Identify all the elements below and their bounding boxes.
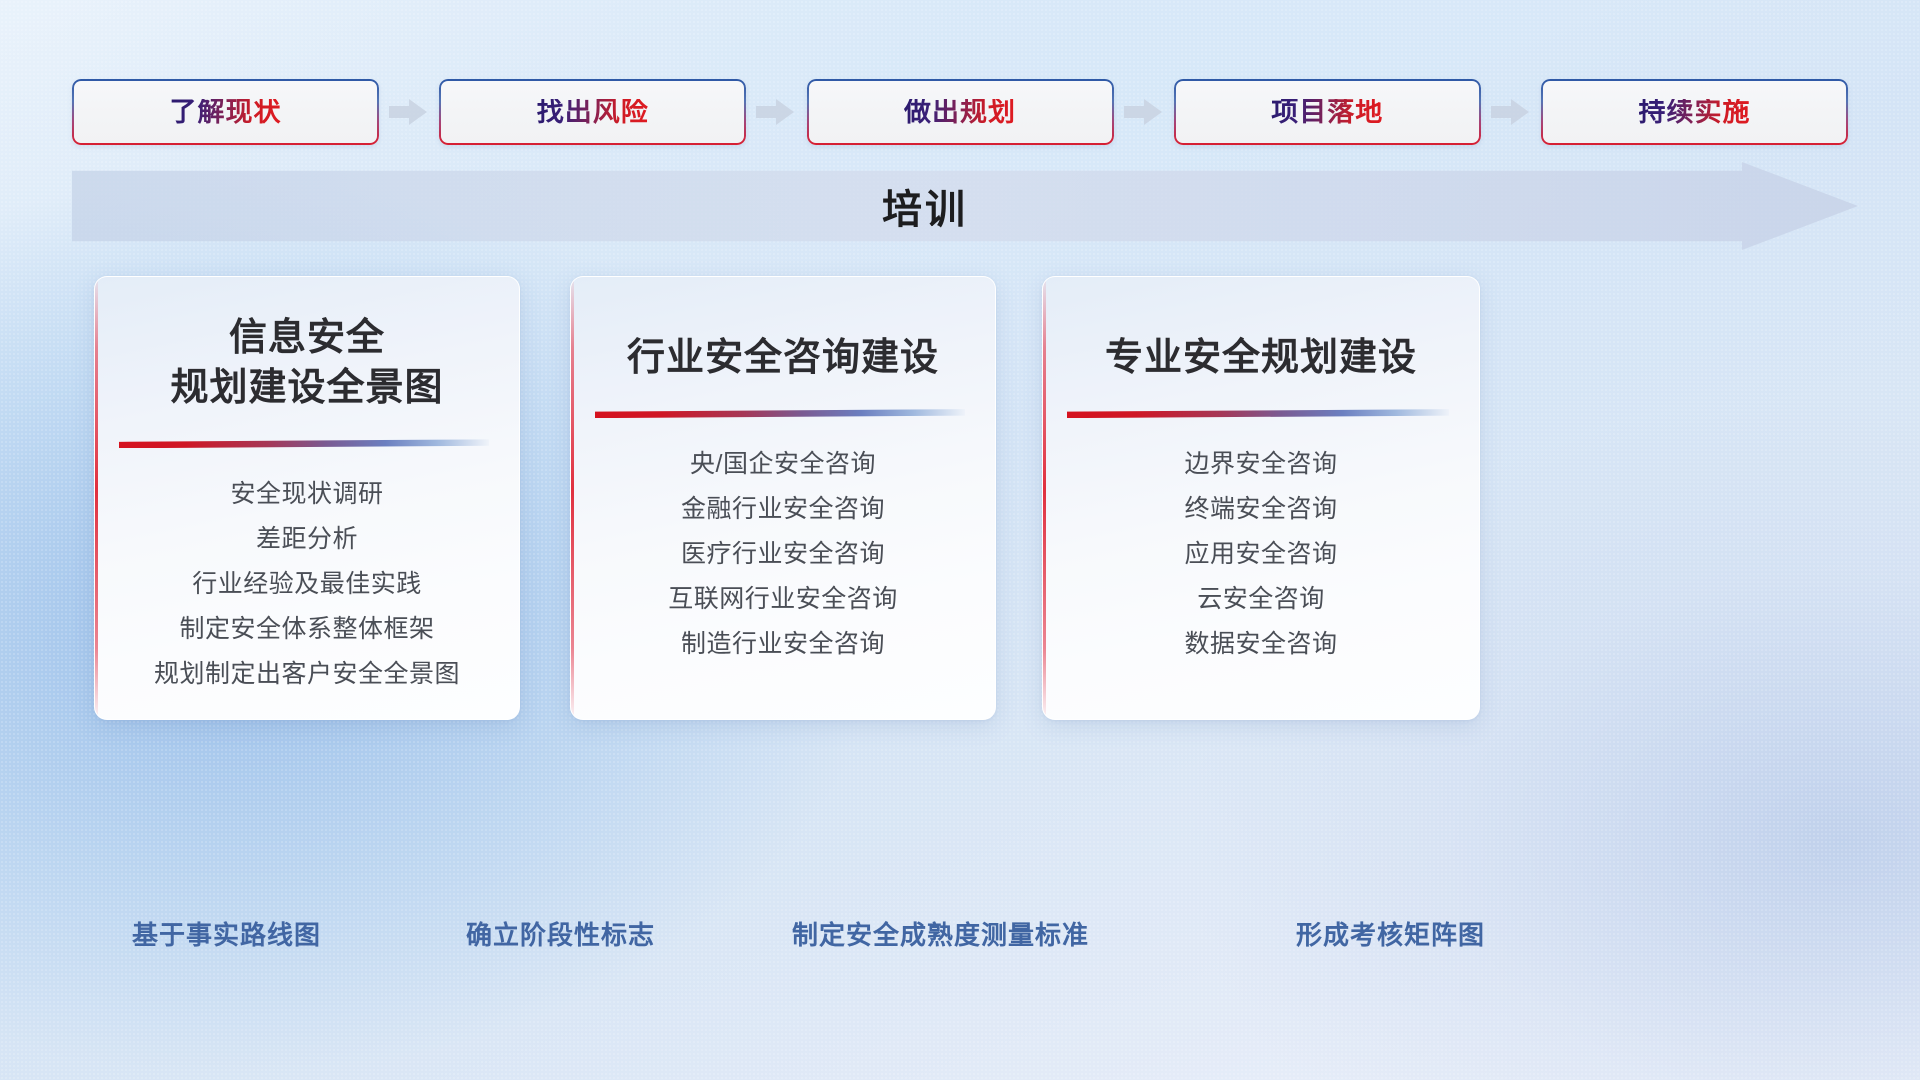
list-item: 制造行业安全咨询 xyxy=(587,632,979,677)
list-item: 边界安全咨询 xyxy=(1059,452,1463,497)
list-item: 制定安全体系整体框架 xyxy=(111,617,503,662)
card-left-accent-bar xyxy=(571,277,574,719)
list-item: 央/国企安全咨询 xyxy=(587,452,979,497)
step-box-3[interactable]: 做出规划 xyxy=(807,79,1114,145)
step-label-1: 了解现状 xyxy=(170,99,282,126)
card-group: 信息安全 规划建设全景图 安全现状调研 差距分析 行业经验及最佳实践 制定安全体… xyxy=(0,276,1920,736)
card-left-accent-bar xyxy=(95,277,98,719)
footer-label-1: 基于事实路线图 xyxy=(132,922,321,948)
footer-label-3: 制定安全成熟度测量标准 xyxy=(792,922,1089,948)
step-label-3: 做出规划 xyxy=(904,99,1016,126)
step-box-2[interactable]: 找出风险 xyxy=(439,79,746,145)
step-label-5: 持续实施 xyxy=(1639,99,1751,126)
list-item: 安全现状调研 xyxy=(111,482,503,527)
card-title: 专业安全规划建设 xyxy=(1043,277,1479,383)
slide-canvas: 了解现状 找出风险 做出规划 项目落地 持续实施 培训 xyxy=(0,0,1920,1080)
step-box-5[interactable]: 持续实施 xyxy=(1541,79,1848,145)
step-box-4[interactable]: 项目落地 xyxy=(1174,79,1481,145)
card-information-security-blueprint[interactable]: 信息安全 规划建设全景图 安全现状调研 差距分析 行业经验及最佳实践 制定安全体… xyxy=(94,276,520,720)
chevron-right-arrow-icon xyxy=(756,97,796,127)
card-divider xyxy=(119,439,489,448)
list-item: 行业经验及最佳实践 xyxy=(111,572,503,617)
card-divider xyxy=(1067,409,1449,418)
list-item: 差距分析 xyxy=(111,527,503,572)
list-item: 规划制定出客户安全全景图 xyxy=(111,662,503,707)
card-item-list: 安全现状调研 差距分析 行业经验及最佳实践 制定安全体系整体框架 规划制定出客户… xyxy=(95,448,519,707)
training-banner: 培训 xyxy=(72,162,1858,250)
list-item: 金融行业安全咨询 xyxy=(587,497,979,542)
list-item: 数据安全咨询 xyxy=(1059,632,1463,677)
training-banner-title: 培训 xyxy=(72,162,1858,250)
step-box-1[interactable]: 了解现状 xyxy=(72,79,379,145)
list-item: 应用安全咨询 xyxy=(1059,542,1463,587)
list-item: 云安全咨询 xyxy=(1059,587,1463,632)
card-title: 信息安全 规划建设全景图 xyxy=(95,277,519,413)
footer-label-2: 确立阶段性标志 xyxy=(466,922,655,948)
card-item-list: 央/国企安全咨询 金融行业安全咨询 医疗行业安全咨询 互联网行业安全咨询 制造行… xyxy=(571,418,995,677)
card-item-list: 边界安全咨询 终端安全咨询 应用安全咨询 云安全咨询 数据安全咨询 xyxy=(1043,418,1479,677)
card-professional-security-planning[interactable]: 专业安全规划建设 边界安全咨询 终端安全咨询 应用安全咨询 云安全咨询 数据安全… xyxy=(1042,276,1480,720)
card-industry-security-consulting[interactable]: 行业安全咨询建设 央/国企安全咨询 金融行业安全咨询 医疗行业安全咨询 互联网行… xyxy=(570,276,996,720)
list-item: 互联网行业安全咨询 xyxy=(587,587,979,632)
chevron-right-arrow-icon xyxy=(389,97,429,127)
chevron-right-arrow-icon xyxy=(1124,97,1164,127)
list-item: 医疗行业安全咨询 xyxy=(587,542,979,587)
list-item: 终端安全咨询 xyxy=(1059,497,1463,542)
card-left-accent-bar xyxy=(1043,277,1046,719)
process-step-flow: 了解现状 找出风险 做出规划 项目落地 持续实施 xyxy=(72,78,1848,146)
footer-label-4: 形成考核矩阵图 xyxy=(1296,922,1485,948)
card-divider xyxy=(595,409,965,418)
card-title: 行业安全咨询建设 xyxy=(571,277,995,383)
step-label-4: 项目落地 xyxy=(1271,99,1383,126)
chevron-right-arrow-icon xyxy=(1491,97,1531,127)
footer-outcome-labels: 基于事实路线图 确立阶段性标志 制定安全成熟度测量标准 形成考核矩阵图 xyxy=(0,922,1920,962)
step-label-2: 找出风险 xyxy=(537,99,649,126)
